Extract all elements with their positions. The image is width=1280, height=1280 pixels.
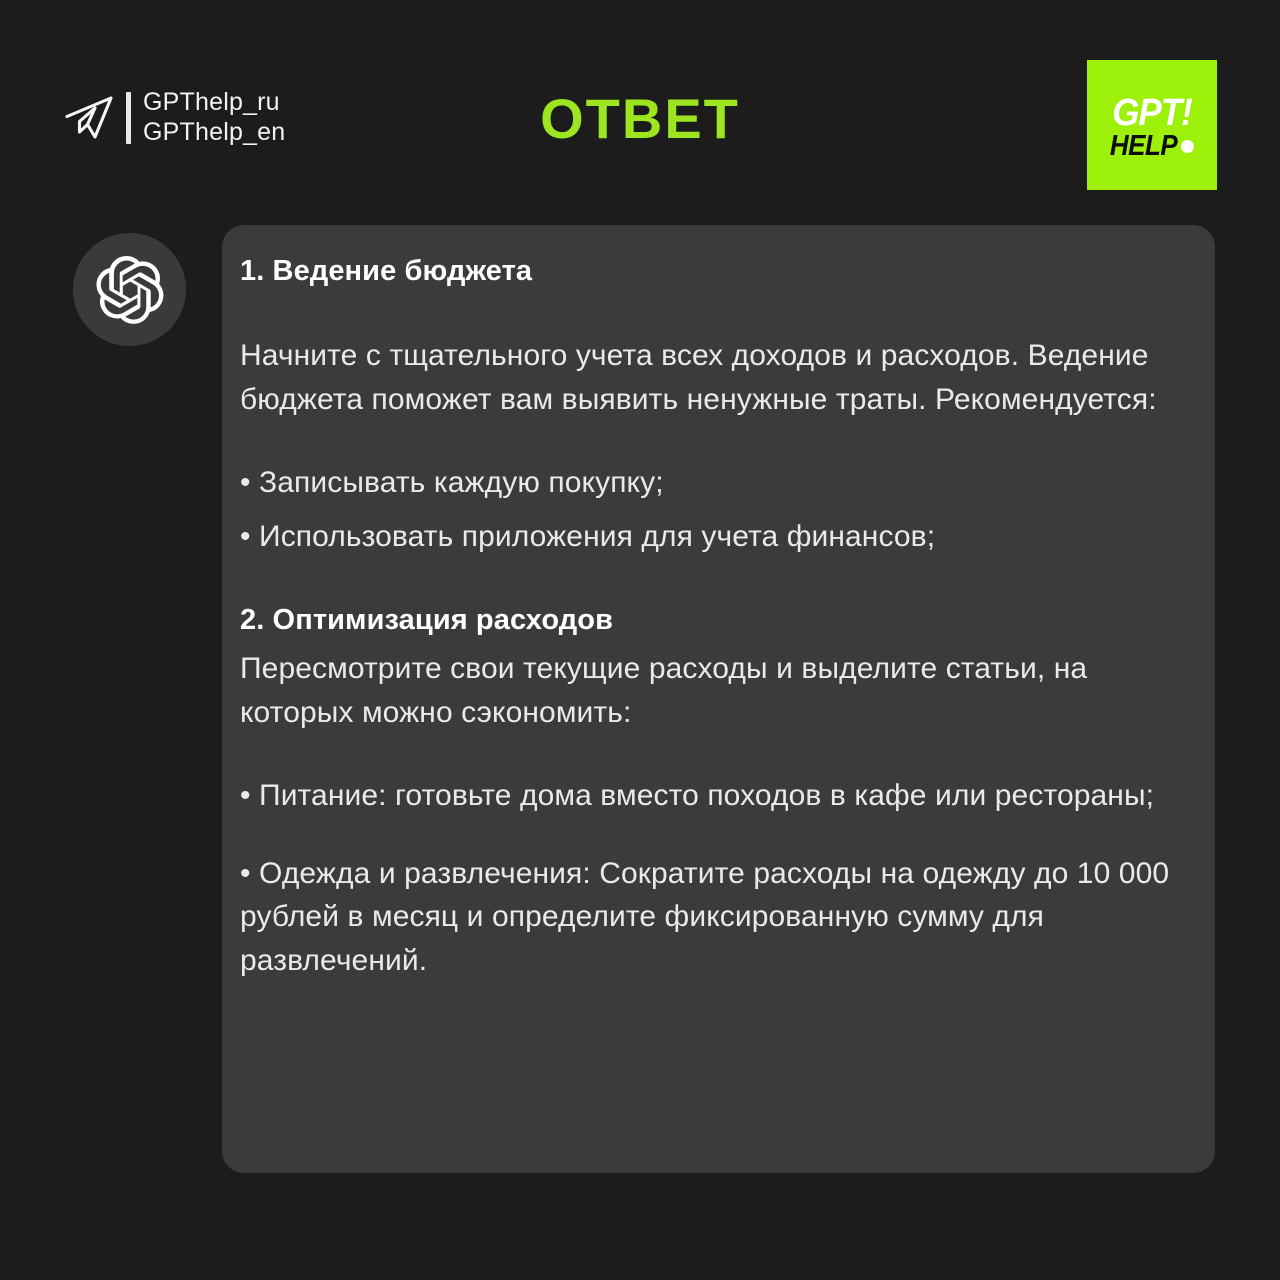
answer-card-page: GPThelp_ru GPThelp_en ОТВЕТ GPT! HELP 1.…	[0, 0, 1280, 1280]
avatar	[73, 233, 186, 346]
logo-bottom-row: HELP	[1110, 132, 1194, 158]
list-item: • Питание: готовьте дома вместо походов …	[240, 774, 1175, 818]
section-2-paragraph: Пересмотрите свои текущие расходы и выде…	[240, 647, 1175, 734]
list-item: • Одежда и развлечения: Сократите расход…	[240, 852, 1175, 983]
section-2-heading: 2. Оптимизация расходов	[240, 604, 1175, 637]
openai-logo-icon	[96, 256, 164, 324]
logo-bottom-text: HELP	[1110, 131, 1177, 160]
section-1-heading: 1. Ведение бюджета	[240, 255, 1175, 288]
list-item: • Использовать приложения для учета фина…	[240, 515, 1175, 559]
header: GPThelp_ru GPThelp_en ОТВЕТ GPT! HELP	[0, 0, 1280, 210]
logo-top-text: GPT!	[1112, 95, 1192, 131]
list-item: • Записывать каждую покупку;	[240, 461, 1175, 505]
section-1-paragraph: Начните с тщательного учета всех доходов…	[240, 334, 1175, 421]
logo-dot-icon	[1181, 140, 1194, 153]
answer-card: 1. Ведение бюджета Начните с тщательного…	[222, 225, 1215, 1173]
gpthelp-logo: GPT! HELP	[1087, 60, 1217, 190]
